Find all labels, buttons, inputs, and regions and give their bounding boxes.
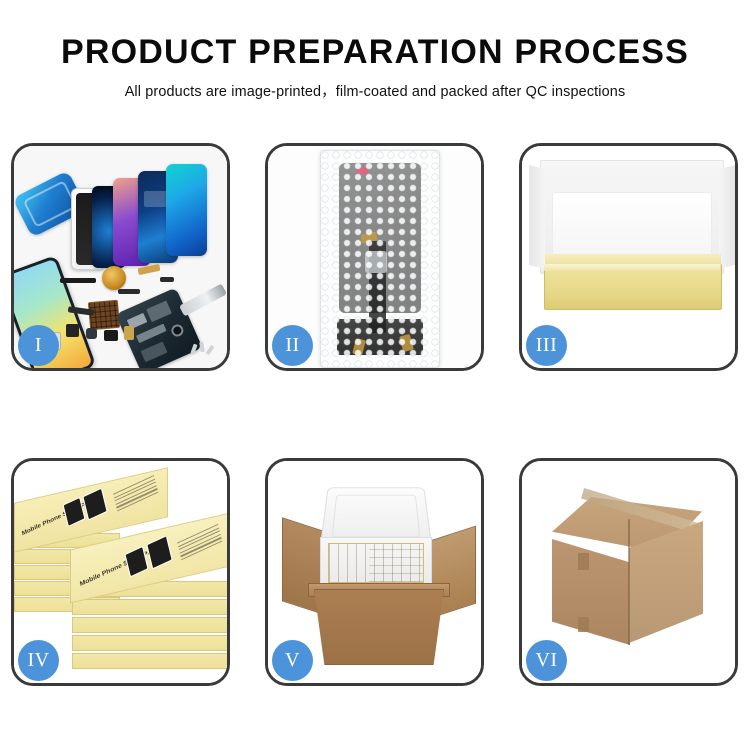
process-steps-grid: I II [11,143,739,713]
phone-display-teal [166,164,207,256]
step-panel-3: III [519,143,738,371]
small-part-4 [124,326,134,340]
step-panel-6: VI [519,458,738,686]
stack-box-right-3 [72,617,227,633]
step-badge-2: II [272,325,313,366]
flex-cable-3 [160,277,174,282]
box-phone-image-b2 [146,535,173,569]
step-panel-1: I [11,143,230,371]
carton-left-face [552,539,630,645]
yellow-boxes-inside [328,543,424,583]
stack-box-right-2 [72,599,227,615]
step-badge-3: III [526,325,567,366]
box-spec-lines-b [177,524,223,563]
page-title: PRODUCT PREPARATION PROCESS [0,34,750,71]
small-part-2 [86,328,97,339]
step-badge-5: V [272,640,313,681]
tweezers-icon [179,283,227,316]
box-spec-lines-a [113,475,159,514]
step-panel-4: Mobile Phone Spare Parts Mobile Phone Sp… [11,458,230,686]
carton-body [314,589,444,665]
step-panel-2: II [265,143,484,371]
lcd-connector [365,251,387,273]
bubble-wrap-bag [320,150,440,368]
step-panel-5: V [265,458,484,686]
flex-cable-5 [118,289,140,294]
box-tray-lip [544,264,720,271]
carton-tab-top [578,553,589,570]
stack-box-right-4 [72,635,227,651]
small-part-3 [104,330,118,341]
page-subtitle: All products are image-printed，film-coat… [0,80,750,101]
carton-corner-edge [628,519,630,645]
screws-icon [192,342,218,356]
vibration-motor-icon [102,266,126,290]
stack-box-right-5 [72,653,227,669]
product-preparation-process-page: PRODUCT PREPARATION PROCESS All products… [0,0,750,750]
header: PRODUCT PREPARATION PROCESS All products… [0,34,750,101]
step-badge-4: IV [18,640,59,681]
step-badge-6: VI [526,640,567,681]
flex-cable-1 [60,278,96,283]
pink-label-tab [357,167,368,174]
step-badge-1: I [18,325,59,366]
carton-tab-bottom [578,617,589,632]
box-phone-image-a2 [82,488,107,521]
small-part-1 [66,324,79,337]
